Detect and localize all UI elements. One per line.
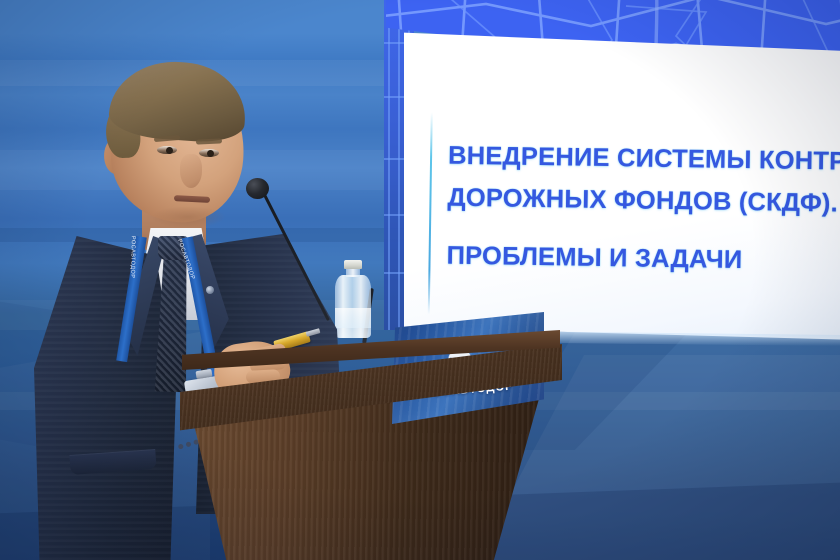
slide-title-line-1: ВНЕДРЕНИЕ СИСТЕМЫ КОНТРОЛЯ <box>448 142 840 177</box>
microphone-head-icon <box>246 178 269 199</box>
pupil-left <box>166 147 173 154</box>
slide-accent-line <box>428 112 433 314</box>
hair <box>107 57 248 144</box>
slide-title-line-2: ДОРОЖНЫХ ФОНДОВ (СКДФ). <box>447 184 838 218</box>
photo-scene: ВНЕДРЕНИЕ СИСТЕМЫ КОНТРОЛЯ ДОРОЖНЫХ ФОНД… <box>0 0 840 560</box>
slide-title-line-3: ПРОБЛЕМЫ И ЗАДАЧИ <box>446 235 840 284</box>
slide-title: ВНЕДРЕНИЕ СИСТЕМЫ КОНТРОЛЯ ДОРОЖНЫХ ФОНД… <box>446 135 840 284</box>
pupil-right <box>207 150 214 157</box>
chin-shadow <box>150 206 226 228</box>
lanyard-text: РОСАВТОДОР <box>129 236 136 279</box>
lapel-pin-icon <box>206 286 214 294</box>
podium: ФЕДЕРАЛЬНОЕ ДОРОЖНОЕ АГЕНТСТВО РОСАВТОДО… <box>170 300 570 560</box>
projection-screen: ВНЕДРЕНИЕ СИСТЕМЫ КОНТРОЛЯ ДОРОЖНЫХ ФОНД… <box>404 28 840 340</box>
nose <box>180 154 202 188</box>
